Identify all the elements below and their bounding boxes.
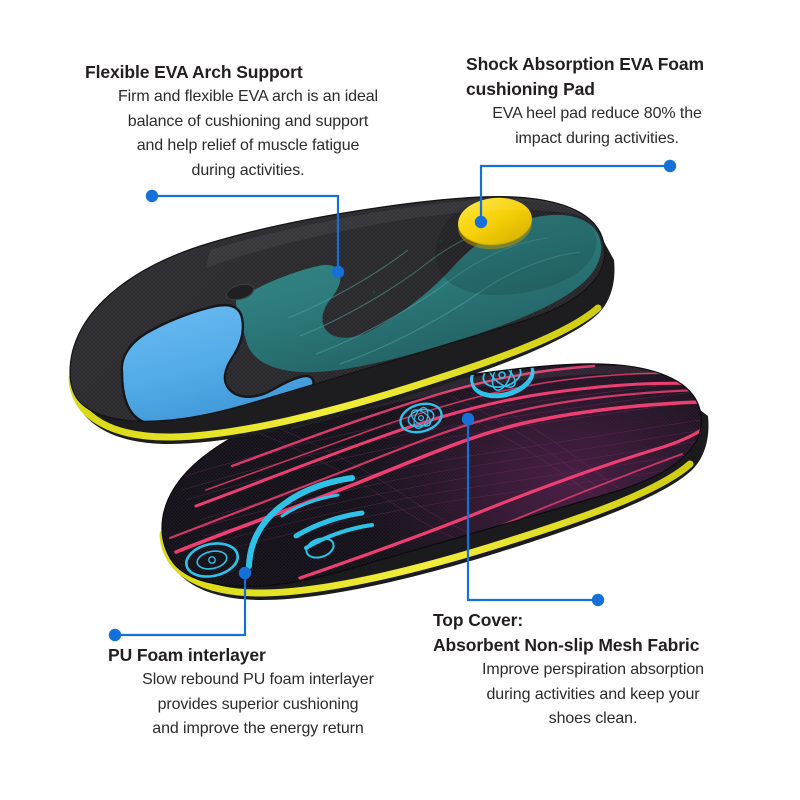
callout-top-cover: Top Cover: Absorbent Non-slip Mesh Fabri… [433,608,753,732]
infographic-canvas: Flexible EVA Arch Support Firm and flexi… [0,0,800,800]
callout-pu-foam-title: PU Foam interlayer [108,643,408,668]
callout-pu-foam-body: Slow rebound PU foam interlayer provides… [108,668,408,742]
leader-line-arch [146,190,344,278]
callout-arch-support: Flexible EVA Arch Support Firm and flexi… [83,60,413,183]
leader-line-pu-foam [109,567,251,641]
callout-arch-support-body: Firm and flexible EVA arch is an ideal b… [83,85,413,183]
callout-arch-support-title: Flexible EVA Arch Support [83,60,413,85]
callout-shock-absorption-title: Shock Absorption EVA Foam cushioning Pad [466,52,758,102]
leader-line-shock [475,160,676,228]
callout-top-cover-body: Improve perspiration absorption during a… [433,658,753,732]
callout-top-cover-title: Top Cover: Absorbent Non-slip Mesh Fabri… [433,608,753,658]
callout-shock-absorption: Shock Absorption EVA Foam cushioning Pad… [466,52,758,151]
callout-pu-foam: PU Foam interlayer Slow rebound PU foam … [108,643,408,742]
callout-shock-absorption-body: EVA heel pad reduce 80% the impact durin… [466,102,758,151]
leader-line-top-cover [462,413,604,606]
